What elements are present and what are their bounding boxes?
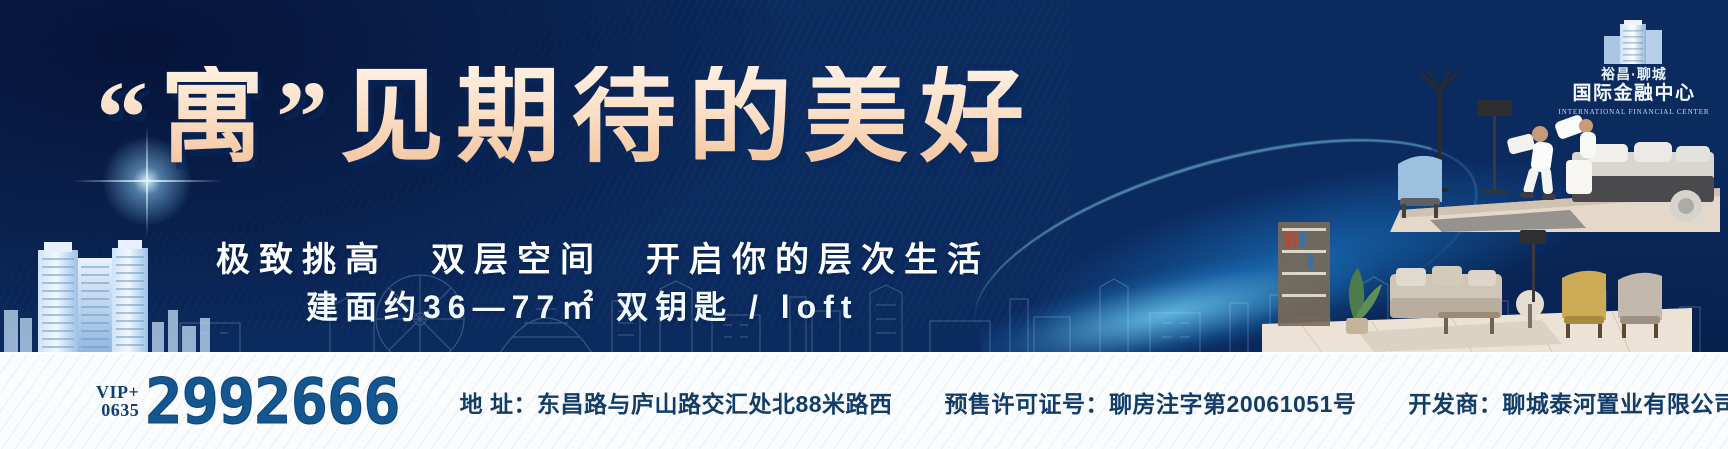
advertisement-banner: 裕昌·聊城 国际金融中心 INTERNATIONAL FINANCIAL CEN… — [0, 0, 1728, 449]
contact-footer-bar: VIP+ 0635 2992666 地 址：东昌路与庐山路交汇处北88米路西 预… — [0, 352, 1728, 449]
vip-label: VIP+ — [96, 383, 139, 402]
skyscraper-icon — [1558, 18, 1710, 64]
developer-text: 开发商：聊城泰河置业有限公司 — [1408, 385, 1728, 419]
spec-type-text: 双钥匙 / loft — [616, 289, 858, 325]
living-room-interior-scene — [1262, 212, 1692, 352]
hero-subline-specs: 建面约36—77㎡ 双钥匙 / loft — [306, 282, 859, 328]
hero-headline: “寓”见期待的美好 — [96, 66, 1036, 170]
residential-tower-graphic — [0, 214, 230, 354]
area-code: 0635 — [96, 401, 139, 420]
phone-block[interactable]: VIP+ 0635 2992666 — [96, 374, 400, 430]
phone-number[interactable]: 2992666 — [145, 374, 399, 430]
bedroom-interior-scene — [1390, 60, 1720, 232]
license-text: 预售许可证号：聊房注字第20061051号 — [945, 385, 1357, 419]
spec-area-unit: ㎡ — [561, 289, 600, 325]
address-text: 地 址：东昌路与庐山路交汇处北88米路西 — [460, 385, 893, 419]
vip-label-group: VIP+ 0635 — [96, 383, 139, 421]
hero-subline-features: 极致挑高 双层空间 开启你的层次生活 — [216, 232, 990, 281]
spec-area-text: 建面约36—77 — [306, 289, 561, 325]
